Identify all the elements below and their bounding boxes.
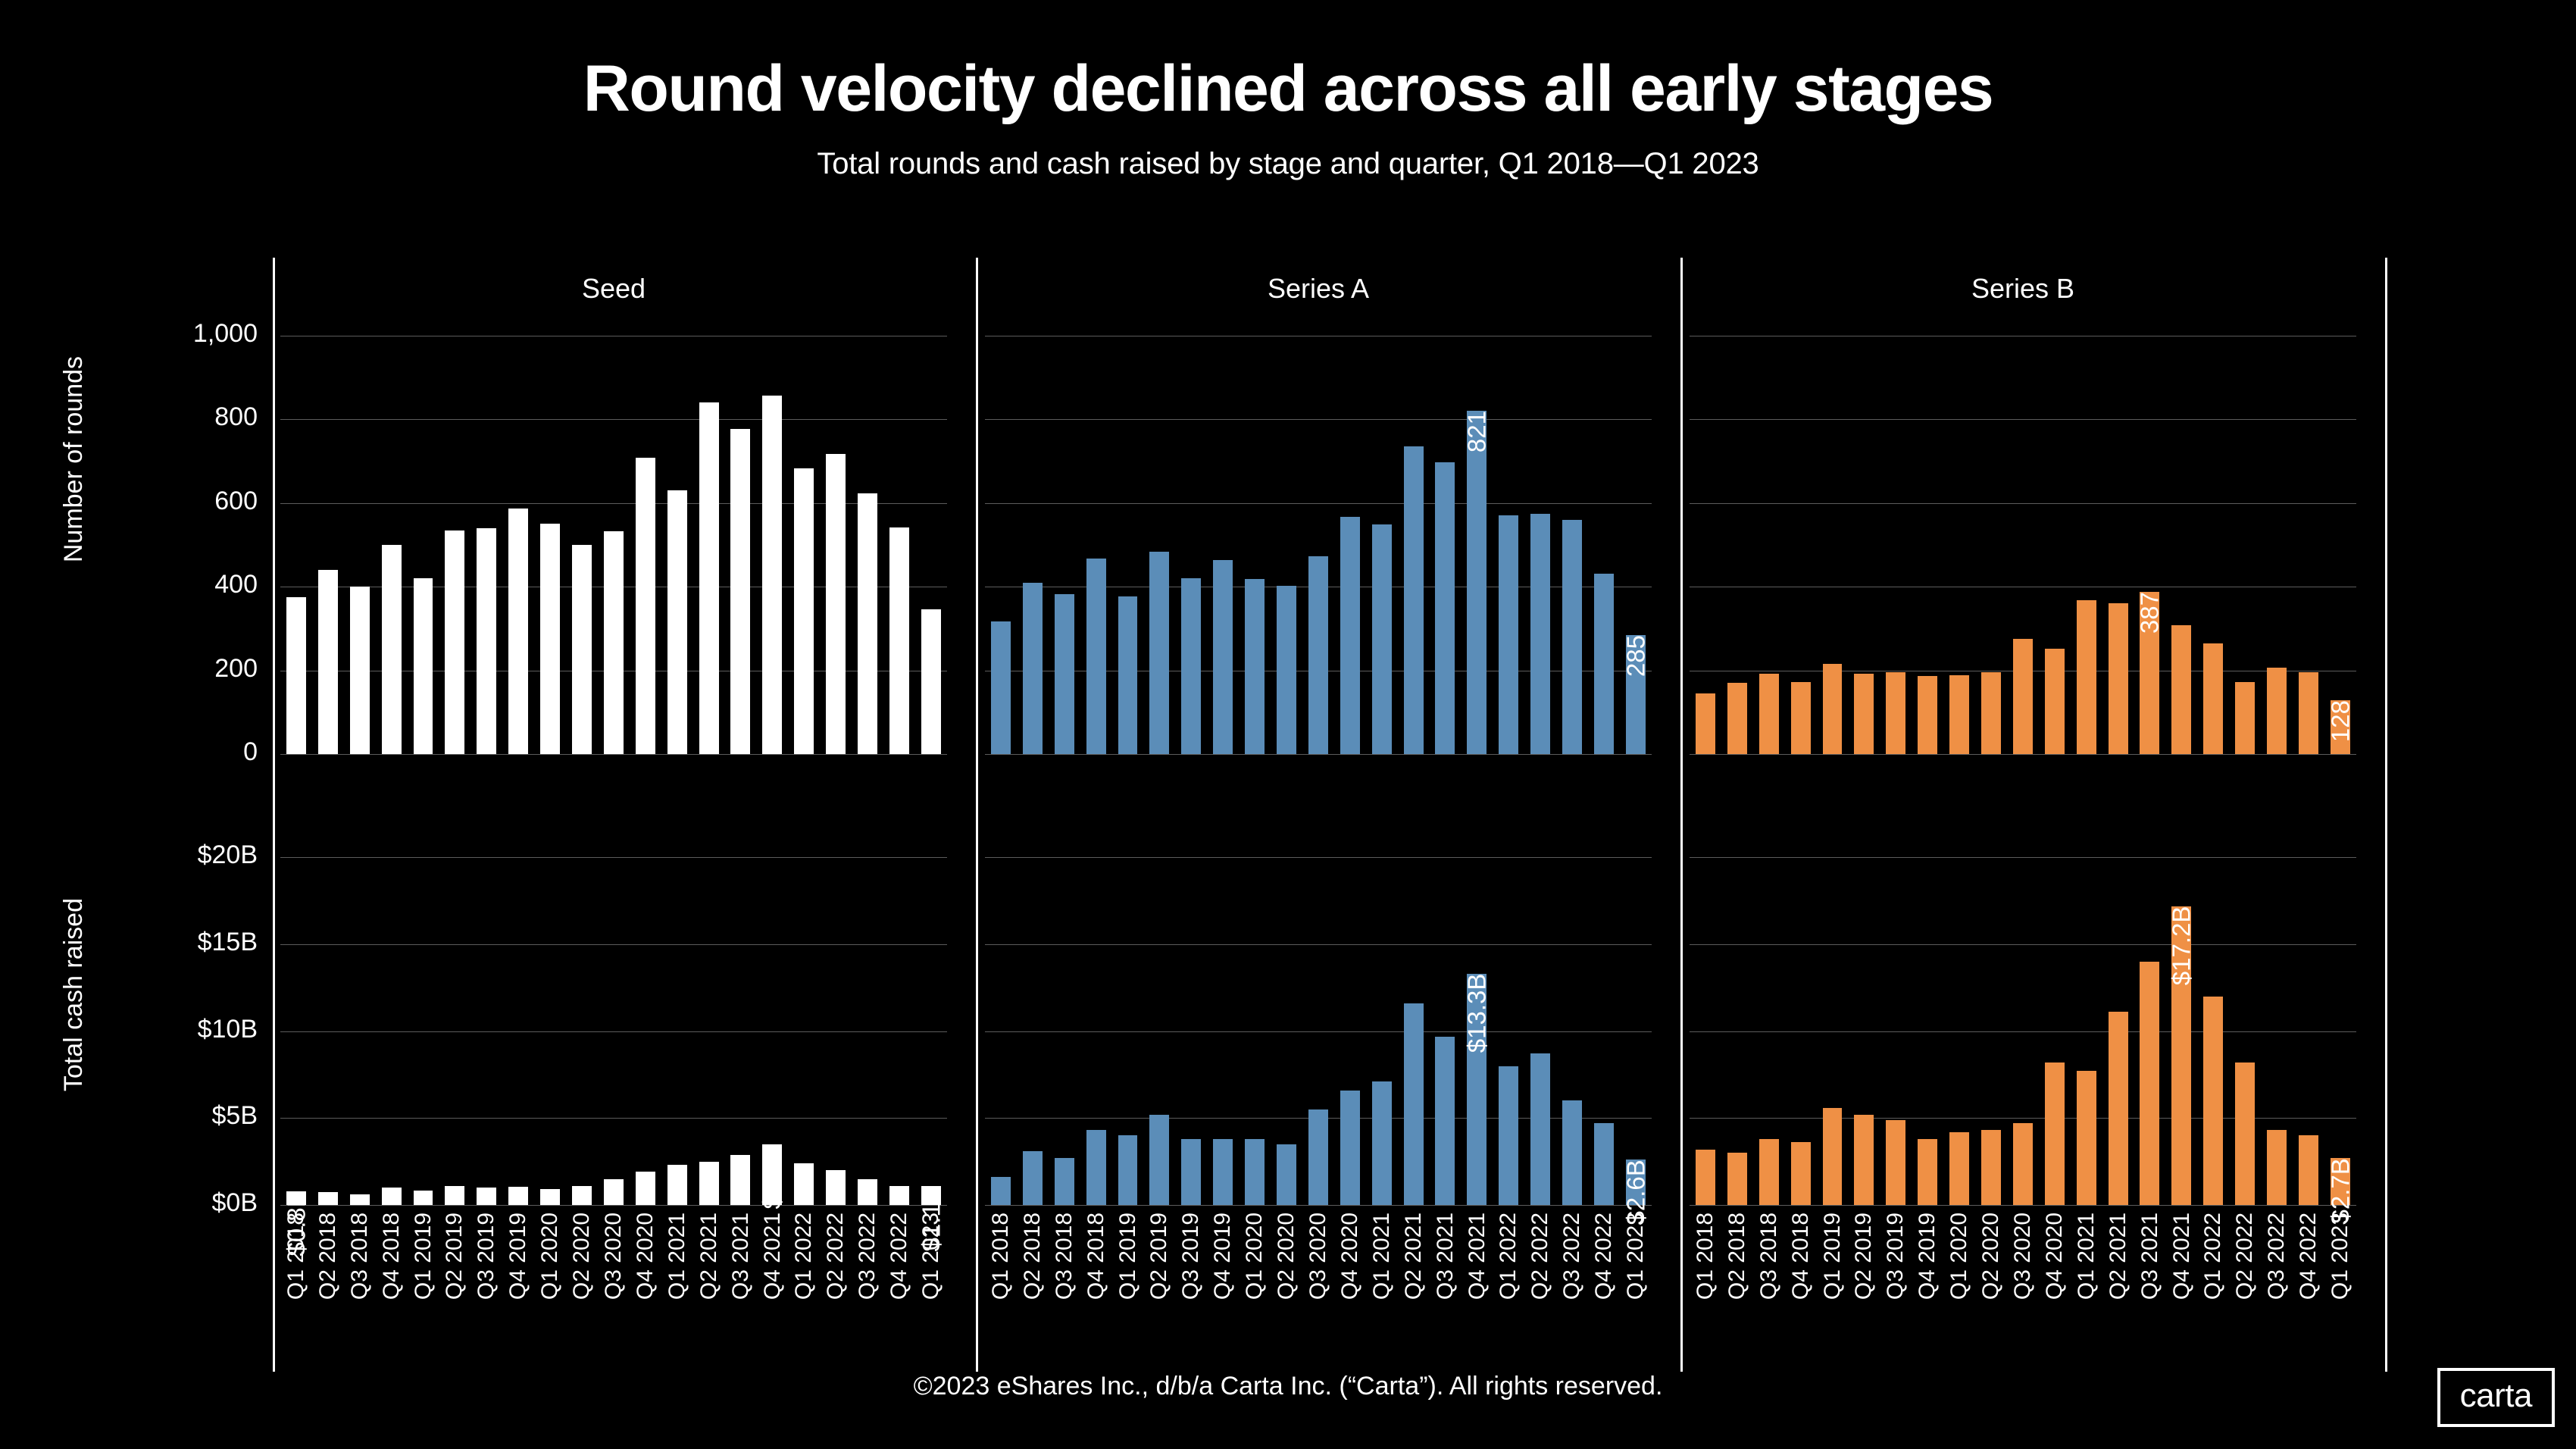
bar[interactable] — [2267, 668, 2287, 754]
bar[interactable] — [604, 1179, 624, 1205]
bar[interactable] — [667, 490, 687, 754]
bar-value-label: 857 — [760, 396, 785, 437]
bar[interactable] — [2109, 1012, 2128, 1205]
bar[interactable] — [1213, 1139, 1233, 1205]
bar[interactable] — [1181, 1139, 1201, 1205]
y-tick-label: $20B — [98, 840, 258, 870]
panel-divider-0 — [273, 258, 275, 1372]
bar[interactable] — [2109, 603, 2128, 754]
bar-group: $13.3B$2.6B — [985, 826, 1652, 1205]
bar[interactable] — [477, 1188, 496, 1205]
x-tick-label: Q4 2018 — [1085, 1213, 1108, 1300]
bar[interactable] — [1277, 586, 1296, 754]
bar[interactable] — [1727, 683, 1747, 754]
x-tick-label: Q3 2019 — [475, 1213, 498, 1300]
bar[interactable] — [604, 531, 624, 754]
x-tick-label: Q1 2022 — [792, 1213, 815, 1300]
bar-value-label: $3.5B — [760, 1144, 785, 1210]
x-axis-seed: Q1 2018Q2 2018Q3 2018Q4 2018Q1 2019Q2 20… — [280, 1213, 947, 1372]
y-tick-label: $10B — [98, 1015, 258, 1044]
plot-area: SeedSeries ASeries BNumber of roundsTota… — [0, 0, 2576, 1449]
bar[interactable] — [2299, 672, 2318, 754]
x-tick-label: Q4 2022 — [888, 1213, 911, 1300]
x-tick-label: Q4 2020 — [634, 1213, 657, 1300]
gridline — [1690, 754, 2356, 755]
bar[interactable] — [1823, 664, 1843, 754]
y-tick-label: 200 — [98, 654, 258, 684]
bar[interactable]: $17.2B — [2171, 906, 2191, 1205]
bar[interactable] — [794, 468, 814, 754]
bar[interactable] — [2077, 1071, 2096, 1205]
x-tick-label: Q1 2018 — [285, 1213, 308, 1300]
x-tick-label: Q1 2020 — [1948, 1213, 1971, 1300]
bar[interactable] — [540, 1189, 560, 1205]
bar[interactable] — [1245, 579, 1265, 754]
bar[interactable] — [2299, 1135, 2318, 1205]
bar[interactable] — [318, 570, 338, 754]
x-tick-label: Q4 2022 — [1593, 1213, 1615, 1300]
gridline — [985, 1205, 1652, 1206]
bar[interactable] — [636, 1172, 655, 1205]
bar[interactable] — [991, 621, 1011, 755]
bar[interactable] — [889, 527, 909, 754]
bar[interactable] — [858, 1179, 877, 1205]
bar[interactable] — [1886, 1120, 1905, 1205]
y-tick-label: 400 — [98, 570, 258, 599]
y-tick-label: $0B — [98, 1188, 258, 1218]
y-tick-label: 600 — [98, 487, 258, 516]
bar[interactable] — [1055, 1158, 1074, 1205]
bar-value-label: 821 — [1465, 411, 1490, 452]
gridline — [280, 754, 947, 755]
bar[interactable] — [1023, 1151, 1043, 1205]
bar[interactable] — [477, 528, 496, 754]
x-tick-label: Q4 2020 — [1339, 1213, 1361, 1300]
bar[interactable] — [1949, 1132, 1969, 1205]
x-tick-label: Q4 2022 — [2297, 1213, 2320, 1300]
bar[interactable] — [858, 493, 877, 754]
x-tick-label: Q2 2022 — [824, 1213, 847, 1300]
chart-page: Round velocity declined across all early… — [0, 0, 2576, 1449]
bar[interactable]: 347 — [921, 609, 941, 755]
bar[interactable] — [1404, 446, 1424, 754]
carta-logo: carta — [2437, 1368, 2555, 1427]
bar[interactable]: $2.6B — [1626, 1160, 1646, 1205]
bar[interactable] — [572, 1186, 592, 1205]
facet-series-b-rounds: 387128 — [1690, 311, 2356, 754]
bar[interactable] — [2045, 649, 2065, 754]
bar[interactable] — [508, 1187, 528, 1205]
gridline — [985, 754, 1652, 755]
bar[interactable] — [2013, 1123, 2033, 1205]
x-tick-label: Q2 2019 — [1852, 1213, 1875, 1300]
bar[interactable] — [1981, 1130, 2001, 1205]
bar[interactable] — [1118, 1135, 1138, 1205]
bar[interactable] — [382, 1188, 402, 1205]
bar[interactable] — [414, 578, 433, 754]
bar[interactable] — [445, 530, 464, 754]
x-tick-label: Q2 2022 — [2234, 1213, 2256, 1300]
bar-value-label: 128 — [2327, 700, 2352, 742]
x-tick-label: Q1 2023 — [920, 1213, 943, 1300]
x-tick-label: Q3 2019 — [1884, 1213, 1907, 1300]
panel-divider-3 — [2385, 258, 2387, 1372]
bar[interactable]: 387 — [2140, 592, 2159, 754]
bar[interactable] — [1499, 1066, 1518, 1205]
bar[interactable] — [667, 1165, 687, 1205]
bar[interactable] — [2203, 643, 2223, 754]
bar[interactable] — [1823, 1108, 1843, 1205]
bar[interactable] — [1086, 559, 1106, 754]
bar[interactable]: $3.5B — [762, 1144, 782, 1205]
facet-series-a-cash: $13.3B$2.6B — [985, 826, 1652, 1205]
bar[interactable] — [2235, 682, 2255, 754]
bar[interactable] — [1277, 1144, 1296, 1205]
x-tick-label: Q1 2018 — [989, 1213, 1012, 1300]
bar[interactable] — [1340, 517, 1360, 754]
x-tick-label: Q3 2020 — [2012, 1213, 2034, 1300]
x-tick-label: Q3 2020 — [1307, 1213, 1330, 1300]
bar[interactable] — [1149, 1115, 1169, 1205]
x-tick-label: Q1 2019 — [1117, 1213, 1140, 1300]
x-axis-series-a: Q1 2018Q2 2018Q3 2018Q4 2018Q1 2019Q2 20… — [985, 1213, 1652, 1372]
panel-divider-2 — [1680, 258, 1683, 1372]
bar[interactable] — [1213, 560, 1233, 754]
facet-series-a-rounds: 821285 — [985, 311, 1652, 754]
bar[interactable] — [1696, 1150, 1715, 1205]
bar[interactable] — [2045, 1062, 2065, 1205]
y-tick-label: 1,000 — [98, 319, 258, 349]
copyright-note: ©2023 eShares Inc., d/b/a Carta Inc. (“C… — [0, 1372, 2576, 1401]
bar-group: 387128 — [1690, 311, 2356, 754]
x-tick-label: Q1 2020 — [1243, 1213, 1266, 1300]
bar[interactable]: 821 — [1467, 411, 1487, 754]
bar[interactable] — [1886, 672, 1905, 754]
bar[interactable] — [730, 1155, 750, 1206]
bar[interactable] — [1149, 552, 1169, 754]
bar[interactable] — [1372, 524, 1392, 754]
bar[interactable] — [1023, 583, 1043, 754]
bar[interactable] — [508, 509, 528, 755]
bar[interactable] — [1245, 1139, 1265, 1205]
bar[interactable] — [350, 587, 370, 754]
bar[interactable]: 857 — [762, 396, 782, 754]
x-tick-label: Q2 2020 — [1980, 1213, 2002, 1300]
x-tick-label: Q3 2021 — [730, 1213, 752, 1300]
bar[interactable] — [540, 524, 560, 754]
bar[interactable] — [1759, 674, 1779, 755]
x-tick-label: Q2 2018 — [317, 1213, 339, 1300]
y-tick-label: $15B — [98, 928, 258, 957]
bar[interactable] — [1530, 1053, 1550, 1205]
x-tick-label: Q2 2018 — [1726, 1213, 1749, 1300]
bar[interactable] — [1981, 672, 2001, 754]
x-tick-label: Q3 2022 — [856, 1213, 879, 1300]
bar[interactable] — [794, 1163, 814, 1205]
bar[interactable] — [1854, 1115, 1874, 1205]
bar-value-label: 347 — [918, 609, 943, 651]
bar[interactable] — [2235, 1062, 2255, 1205]
x-tick-label: Q2 2019 — [443, 1213, 466, 1300]
bar[interactable] — [1791, 1142, 1811, 1205]
bar[interactable] — [1562, 520, 1582, 754]
bar[interactable] — [636, 458, 655, 754]
bar[interactable] — [1435, 1037, 1455, 1205]
y-axis-title-cash: Total cash raised — [59, 898, 89, 1091]
bar[interactable] — [1727, 1153, 1747, 1205]
gridline — [1690, 1205, 2356, 1206]
x-tick-label: Q3 2020 — [602, 1213, 625, 1300]
bar[interactable] — [2267, 1130, 2287, 1205]
x-tick-label: Q1 2021 — [2075, 1213, 2098, 1300]
x-tick-label: Q1 2021 — [666, 1213, 689, 1300]
x-tick-label: Q1 2020 — [539, 1213, 561, 1300]
bar[interactable] — [318, 1192, 338, 1205]
x-tick-label: Q2 2018 — [1021, 1213, 1044, 1300]
facet-seed-rounds: 857347 — [280, 311, 947, 754]
bar[interactable] — [1435, 462, 1455, 754]
x-tick-label: Q4 2021 — [1466, 1213, 1489, 1300]
bar[interactable] — [1791, 682, 1811, 754]
bar[interactable] — [2171, 625, 2191, 754]
x-tick-label: Q3 2018 — [1758, 1213, 1780, 1300]
bar[interactable] — [1308, 1109, 1328, 1205]
x-tick-label: Q2 2022 — [1529, 1213, 1552, 1300]
x-tick-label: Q1 2021 — [1371, 1213, 1393, 1300]
x-tick-label: Q4 2019 — [1211, 1213, 1234, 1300]
facet-title-series-b: Series B — [1690, 273, 2356, 305]
x-tick-label: Q2 2021 — [1402, 1213, 1425, 1300]
facet-seed-cash: $0.8B$3.5B$1.1B — [280, 826, 947, 1205]
panel-divider-1 — [976, 258, 978, 1372]
bar[interactable]: $2.7B — [2331, 1158, 2350, 1205]
bar-group: 821285 — [985, 311, 1652, 754]
bar[interactable]: 285 — [1626, 635, 1646, 754]
x-tick-label: Q1 2022 — [2202, 1213, 2224, 1300]
x-tick-label: Q2 2021 — [2107, 1213, 2130, 1300]
bar[interactable] — [1594, 1123, 1614, 1205]
bar[interactable] — [699, 402, 719, 754]
bar[interactable] — [2140, 962, 2159, 1205]
bar-group: $0.8B$3.5B$1.1B — [280, 826, 947, 1205]
x-tick-label: Q1 2019 — [1821, 1213, 1844, 1300]
bar-group: $17.2B$2.7B — [1690, 826, 2356, 1205]
bar[interactable] — [2203, 997, 2223, 1205]
y-tick-label: 800 — [98, 402, 258, 432]
x-tick-label: Q2 2020 — [1275, 1213, 1298, 1300]
x-tick-label: Q1 2023 — [2329, 1213, 2352, 1300]
x-tick-label: Q4 2019 — [1916, 1213, 1939, 1300]
x-tick-label: Q2 2019 — [1148, 1213, 1171, 1300]
x-tick-label: Q1 2018 — [1694, 1213, 1717, 1300]
x-tick-label: Q2 2021 — [698, 1213, 721, 1300]
bar[interactable] — [1181, 578, 1201, 754]
bar[interactable] — [1340, 1091, 1360, 1205]
x-tick-label: Q1 2023 — [1624, 1213, 1647, 1300]
x-tick-label: Q3 2022 — [2265, 1213, 2288, 1300]
x-tick-label: Q4 2021 — [761, 1213, 784, 1300]
x-tick-label: Q4 2019 — [507, 1213, 530, 1300]
bar[interactable]: $1.1B — [921, 1186, 941, 1205]
bar-value-label: 285 — [1623, 635, 1648, 677]
bar[interactable] — [445, 1186, 464, 1205]
bar[interactable] — [1759, 1139, 1779, 1205]
facet-title-seed: Seed — [280, 273, 947, 305]
bar[interactable] — [1499, 515, 1518, 754]
bar[interactable] — [414, 1191, 433, 1205]
bar[interactable] — [1372, 1081, 1392, 1205]
bar[interactable] — [1530, 514, 1550, 754]
bar[interactable] — [1562, 1100, 1582, 1205]
x-tick-label: Q4 2021 — [2171, 1213, 2193, 1300]
bar[interactable] — [889, 1186, 909, 1205]
bar-value-label: 387 — [2137, 592, 2162, 634]
x-tick-label: Q4 2020 — [2043, 1213, 2066, 1300]
bar[interactable] — [1594, 574, 1614, 754]
x-axis-series-b: Q1 2018Q2 2018Q3 2018Q4 2018Q1 2019Q2 20… — [1690, 1213, 2356, 1372]
bar[interactable] — [2077, 600, 2096, 754]
x-tick-label: Q3 2021 — [1434, 1213, 1457, 1300]
x-tick-label: Q4 2018 — [1790, 1213, 1812, 1300]
bar[interactable]: $0.8B — [286, 1191, 306, 1205]
bar[interactable] — [826, 1170, 846, 1205]
bar[interactable]: $13.3B — [1467, 974, 1487, 1205]
bar[interactable] — [1918, 676, 1937, 754]
bar-value-label: $13.3B — [1465, 974, 1490, 1053]
x-tick-label: Q1 2019 — [412, 1213, 435, 1300]
bar[interactable] — [1696, 693, 1715, 754]
bar[interactable] — [699, 1162, 719, 1205]
facet-title-series-a: Series A — [985, 273, 1652, 305]
bar[interactable] — [286, 597, 306, 754]
x-tick-label: Q2 2020 — [571, 1213, 593, 1300]
bar[interactable] — [1918, 1139, 1937, 1205]
bar[interactable] — [1949, 675, 1969, 754]
x-tick-label: Q3 2018 — [1053, 1213, 1076, 1300]
bar-value-label: $17.2B — [2169, 906, 2194, 986]
bar[interactable] — [572, 545, 592, 754]
x-tick-label: Q4 2018 — [380, 1213, 403, 1300]
bar[interactable] — [1404, 1003, 1424, 1205]
y-tick-label: $5B — [98, 1101, 258, 1131]
facet-series-b-cash: $17.2B$2.7B — [1690, 826, 2356, 1205]
bar[interactable] — [1086, 1130, 1106, 1205]
gridline — [280, 1205, 947, 1206]
bar[interactable] — [991, 1177, 1011, 1205]
x-tick-label: Q3 2019 — [1180, 1213, 1202, 1300]
y-axis-title-rounds: Number of rounds — [59, 356, 89, 562]
x-tick-label: Q3 2018 — [349, 1213, 371, 1300]
bar[interactable] — [1308, 556, 1328, 754]
bar[interactable] — [382, 545, 402, 754]
bar[interactable] — [1118, 596, 1138, 754]
bar[interactable]: 128 — [2331, 700, 2350, 754]
bar[interactable] — [730, 429, 750, 754]
bar[interactable] — [2013, 639, 2033, 754]
x-tick-label: Q3 2022 — [1561, 1213, 1583, 1300]
bar[interactable] — [1854, 674, 1874, 754]
x-tick-label: Q1 2022 — [1497, 1213, 1520, 1300]
bar[interactable] — [826, 454, 846, 754]
bar[interactable] — [1055, 594, 1074, 754]
x-tick-label: Q3 2021 — [2139, 1213, 2162, 1300]
bar-group: 857347 — [280, 311, 947, 754]
y-tick-label: 0 — [98, 737, 258, 767]
bar[interactable] — [350, 1194, 370, 1205]
